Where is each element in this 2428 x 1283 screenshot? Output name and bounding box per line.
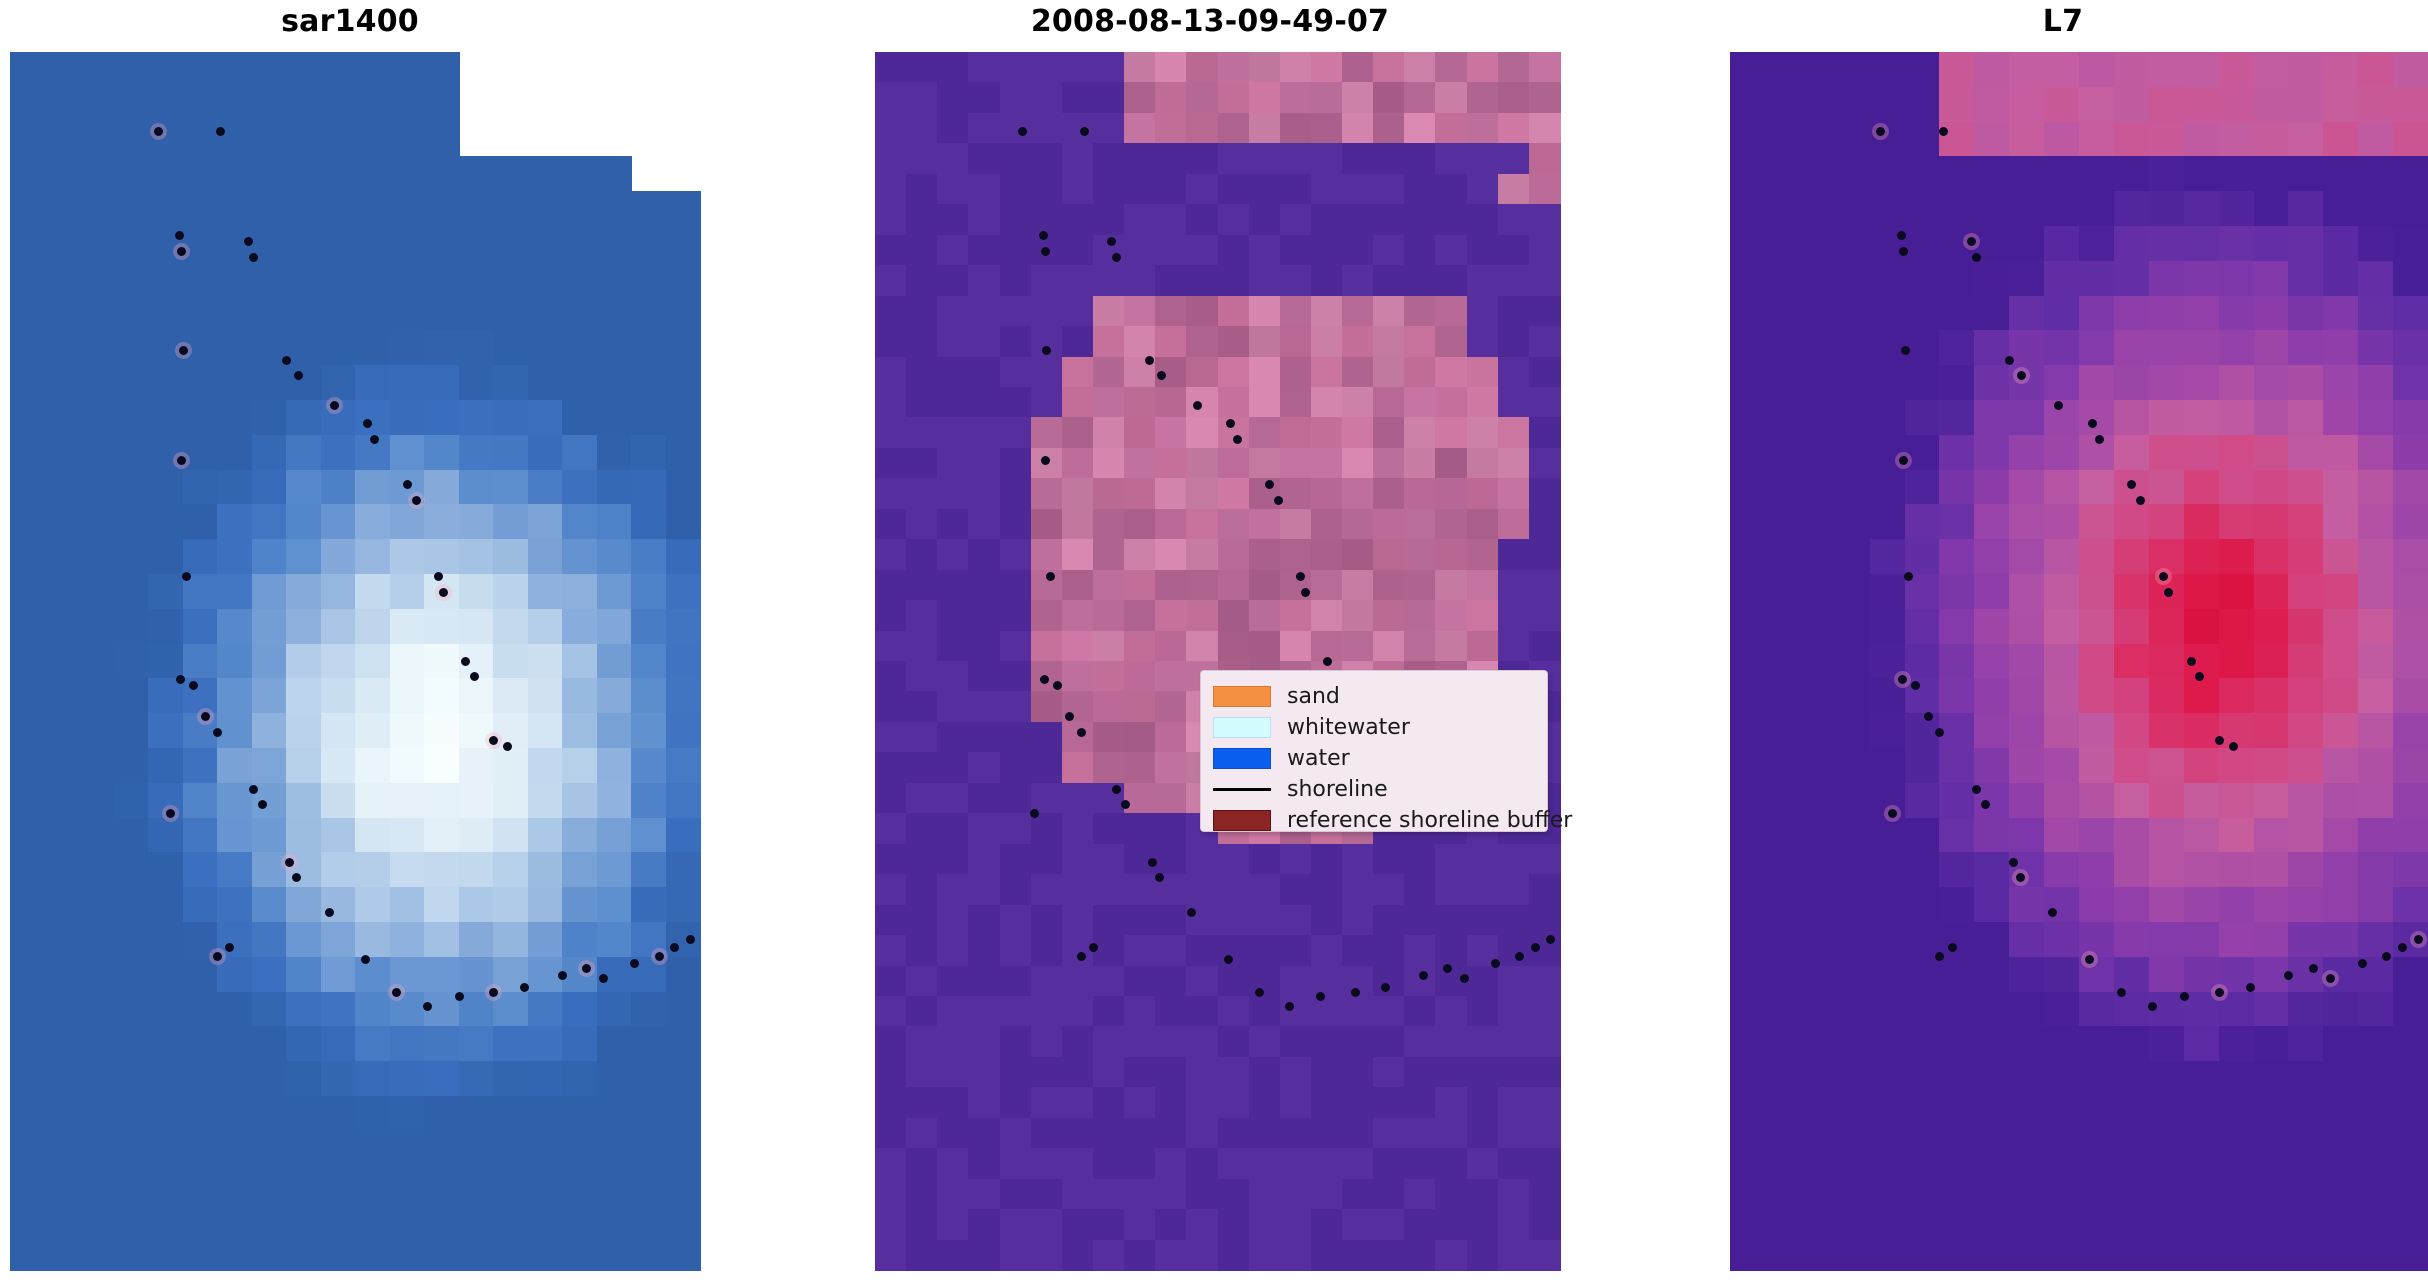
classified-cell bbox=[1249, 935, 1281, 966]
raster-cell bbox=[2149, 330, 2185, 366]
classified-cell bbox=[1373, 966, 1405, 997]
raster-cell bbox=[528, 226, 564, 262]
raster-cell bbox=[252, 400, 288, 436]
classified-cell bbox=[1000, 204, 1032, 235]
classified-cell bbox=[968, 691, 1000, 722]
shoreline-point bbox=[1924, 712, 1933, 721]
raster-cell bbox=[321, 504, 357, 540]
raster-cell bbox=[217, 435, 253, 471]
classified-cell bbox=[875, 722, 907, 753]
raster-cell bbox=[114, 678, 150, 714]
raster-cell bbox=[2393, 1026, 2428, 1062]
raster-cell bbox=[1905, 609, 1941, 645]
raster-cell bbox=[2254, 226, 2290, 262]
raster-cell bbox=[666, 1096, 702, 1132]
raster-cell bbox=[2184, 609, 2220, 645]
raster-cell bbox=[2219, 504, 2255, 540]
classified-cell bbox=[1031, 752, 1063, 783]
raster-cell bbox=[666, 1061, 702, 1097]
classified-cell bbox=[1031, 722, 1063, 753]
raster-cell bbox=[597, 470, 633, 506]
classified-cell bbox=[1186, 417, 1218, 448]
raster-cell bbox=[114, 748, 150, 784]
raster-cell bbox=[10, 52, 46, 88]
raster-cell bbox=[2323, 504, 2359, 540]
classified-cell bbox=[1218, 1087, 1250, 1118]
classified-cell bbox=[1435, 296, 1467, 327]
classified-cell bbox=[1062, 905, 1094, 936]
raster-cell bbox=[1730, 365, 1766, 401]
raster-cell bbox=[1905, 87, 1941, 123]
raster-cell bbox=[2254, 296, 2290, 332]
classified-cell bbox=[968, 661, 1000, 692]
raster-cell bbox=[252, 122, 288, 158]
raster-cell bbox=[2149, 852, 2185, 888]
raster-cell bbox=[390, 330, 426, 366]
raster-cell bbox=[2358, 539, 2394, 575]
raster-cell bbox=[183, 1061, 219, 1097]
shoreline-point bbox=[1531, 943, 1540, 952]
raster-cell bbox=[1974, 400, 2010, 436]
raster-cell bbox=[493, 1096, 529, 1132]
raster-cell bbox=[1835, 87, 1871, 123]
raster-cell bbox=[390, 1166, 426, 1202]
raster-cell bbox=[355, 1166, 391, 1202]
raster-cell bbox=[2288, 87, 2324, 123]
raster-cell bbox=[666, 261, 702, 297]
classified-cell bbox=[1031, 1240, 1063, 1271]
classified-cell bbox=[1529, 204, 1561, 235]
raster-cell bbox=[2114, 435, 2150, 471]
classified-cell bbox=[1404, 1087, 1436, 1118]
classified-cell bbox=[1000, 296, 1032, 327]
raster-cell bbox=[666, 922, 702, 958]
raster-cell bbox=[1765, 539, 1801, 575]
classified-cell bbox=[1311, 204, 1343, 235]
classified-cell bbox=[1529, 1209, 1561, 1240]
legend-label: reference shoreline buffer bbox=[1287, 810, 1572, 832]
raster-cell bbox=[217, 87, 253, 123]
raster-cell bbox=[2149, 1235, 2185, 1271]
raster-cell bbox=[2219, 644, 2255, 680]
raster-cell bbox=[183, 52, 219, 88]
classified-cell bbox=[937, 691, 969, 722]
classified-cell bbox=[1124, 570, 1156, 601]
raster-cell bbox=[493, 1026, 529, 1062]
classified-cell bbox=[1093, 996, 1125, 1027]
classified-cell bbox=[937, 143, 969, 174]
raster-cell bbox=[2079, 52, 2115, 88]
classified-cell bbox=[1031, 478, 1063, 509]
classified-cell bbox=[968, 874, 1000, 905]
raster-cell bbox=[631, 1200, 667, 1236]
raster-cell bbox=[666, 191, 702, 227]
raster-cell bbox=[2009, 748, 2045, 784]
classified-cell bbox=[937, 874, 969, 905]
raster-cell bbox=[45, 122, 81, 158]
classified-cell bbox=[906, 935, 938, 966]
classified-cell bbox=[906, 357, 938, 388]
classified-cell bbox=[906, 1209, 938, 1240]
classified-cell bbox=[875, 235, 907, 266]
raster-cell bbox=[2079, 887, 2115, 923]
classified-cell bbox=[1280, 387, 1312, 418]
classified-cell bbox=[1218, 478, 1250, 509]
classified-cell bbox=[968, 966, 1000, 997]
shoreline-point bbox=[1121, 800, 1130, 809]
raster-cell bbox=[597, 504, 633, 540]
raster-cell bbox=[355, 922, 391, 958]
classified-cell bbox=[1498, 478, 1530, 509]
raster-cell bbox=[1939, 1096, 1975, 1132]
raster-cell bbox=[2149, 52, 2185, 88]
classified-cell bbox=[1093, 905, 1125, 936]
raster-cell bbox=[424, 226, 460, 262]
classified-cell bbox=[937, 1240, 969, 1271]
classified-cell bbox=[1373, 1118, 1405, 1149]
classified-cell bbox=[1093, 874, 1125, 905]
raster-cell bbox=[2254, 435, 2290, 471]
classified-cell bbox=[1186, 296, 1218, 327]
raster-cell bbox=[321, 1166, 357, 1202]
classified-cell bbox=[1062, 844, 1094, 875]
classified-cell bbox=[906, 874, 938, 905]
raster-cell bbox=[1905, 261, 1941, 297]
raster-cell bbox=[666, 1131, 702, 1167]
classified-cell bbox=[1498, 1179, 1530, 1210]
raster-cell bbox=[493, 818, 529, 854]
raster-cell bbox=[631, 783, 667, 819]
classified-cell bbox=[1031, 996, 1063, 1027]
classified-cell bbox=[1249, 844, 1281, 875]
classified-cell bbox=[875, 143, 907, 174]
classified-cell bbox=[1311, 52, 1343, 83]
raster-cell bbox=[493, 1131, 529, 1167]
raster-cell bbox=[252, 261, 288, 297]
raster-cell bbox=[1870, 852, 1906, 888]
raster-cell bbox=[2323, 1200, 2359, 1236]
classified-cell bbox=[1124, 509, 1156, 540]
raster-cell bbox=[217, 783, 253, 819]
shoreline-point bbox=[1546, 935, 1555, 944]
classified-cell bbox=[1124, 1240, 1156, 1271]
raster-cell bbox=[1800, 191, 1836, 227]
raster-cell bbox=[286, 261, 322, 297]
classified-cell bbox=[937, 661, 969, 692]
raster-cell bbox=[286, 1235, 322, 1271]
raster-cell bbox=[666, 1200, 702, 1236]
classified-cell bbox=[906, 265, 938, 296]
raster-cell bbox=[45, 1061, 81, 1097]
raster-cell bbox=[148, 1061, 184, 1097]
raster-cell bbox=[1939, 609, 1975, 645]
raster-cell bbox=[2044, 122, 2080, 158]
raster-cell bbox=[597, 1166, 633, 1202]
shoreline-point bbox=[1491, 959, 1500, 968]
classified-cell bbox=[1186, 265, 1218, 296]
classified-cell bbox=[1280, 509, 1312, 540]
raster-cell bbox=[1939, 365, 1975, 401]
raster-cell bbox=[114, 1096, 150, 1132]
raster-cell bbox=[2149, 922, 2185, 958]
raster-cell bbox=[597, 713, 633, 749]
raster-cell bbox=[1800, 470, 1836, 506]
classified-cell bbox=[1280, 113, 1312, 144]
raster-cell bbox=[2114, 609, 2150, 645]
raster-cell bbox=[2323, 1061, 2359, 1097]
classified-cell bbox=[875, 1148, 907, 1179]
classified-cell bbox=[1124, 1118, 1156, 1149]
raster-cell bbox=[459, 1096, 495, 1132]
classified-cell bbox=[875, 1118, 907, 1149]
classified-cell bbox=[1124, 326, 1156, 357]
raster-cell bbox=[1939, 504, 1975, 540]
raster-cell bbox=[286, 957, 322, 993]
raster-cell bbox=[114, 1131, 150, 1167]
raster-cell bbox=[2323, 296, 2359, 332]
raster-cell bbox=[1730, 713, 1766, 749]
raster-cell bbox=[2358, 261, 2394, 297]
classified-cell bbox=[1529, 387, 1561, 418]
classified-cell bbox=[1124, 631, 1156, 662]
classified-cell bbox=[1311, 905, 1343, 936]
raster-cell bbox=[217, 992, 253, 1028]
raster-cell bbox=[1905, 748, 1941, 784]
classified-cell bbox=[906, 1240, 938, 1271]
classified-cell bbox=[1062, 570, 1094, 601]
classified-cell bbox=[1435, 52, 1467, 83]
classified-cell bbox=[1155, 204, 1187, 235]
classified-cell bbox=[1186, 600, 1218, 631]
raster-cell bbox=[10, 226, 46, 262]
raster-cell bbox=[493, 470, 529, 506]
raster-cell bbox=[424, 122, 460, 158]
classified-cell bbox=[906, 966, 938, 997]
classified-cell bbox=[1249, 265, 1281, 296]
raster-cell bbox=[2254, 783, 2290, 819]
raster-cell bbox=[2393, 713, 2428, 749]
raster-cell bbox=[1765, 226, 1801, 262]
classified-cell bbox=[1498, 417, 1530, 448]
raster-cell bbox=[2149, 713, 2185, 749]
raster-cell bbox=[390, 922, 426, 958]
raster-cell bbox=[2079, 678, 2115, 714]
raster-cell bbox=[1905, 852, 1941, 888]
classified-cell bbox=[1280, 844, 1312, 875]
raster-cell bbox=[528, 539, 564, 575]
classified-cell bbox=[1404, 143, 1436, 174]
classified-cell bbox=[1186, 1026, 1218, 1057]
classified-cell bbox=[1342, 1026, 1374, 1057]
raster-cell bbox=[2358, 678, 2394, 714]
raster-cell bbox=[2009, 470, 2045, 506]
raster-cell bbox=[2149, 191, 2185, 227]
raster-cell bbox=[1835, 539, 1871, 575]
classified-cell bbox=[1373, 113, 1405, 144]
raster-cell bbox=[1765, 748, 1801, 784]
raster-cell bbox=[1870, 156, 1906, 192]
raster-cell bbox=[390, 1096, 426, 1132]
raster-cell bbox=[252, 365, 288, 401]
raster-cell bbox=[2009, 609, 2045, 645]
classified-cell bbox=[1093, 52, 1125, 83]
raster-cell bbox=[2149, 609, 2185, 645]
raster-cell bbox=[1800, 1200, 1836, 1236]
classified-cell bbox=[1529, 1179, 1561, 1210]
classified-cell bbox=[1467, 113, 1499, 144]
raster-cell bbox=[114, 226, 150, 262]
panel-l7: L7 bbox=[1718, 0, 2428, 1283]
raster-cell bbox=[1905, 644, 1941, 680]
raster-cell bbox=[355, 992, 391, 1028]
raster-cell bbox=[2114, 992, 2150, 1028]
classified-cell bbox=[1342, 1179, 1374, 1210]
raster-cell bbox=[10, 504, 46, 540]
raster-cell bbox=[562, 226, 598, 262]
classified-cell bbox=[875, 357, 907, 388]
raster-cell bbox=[2288, 922, 2324, 958]
raster-cell bbox=[424, 1096, 460, 1132]
raster-cell bbox=[148, 365, 184, 401]
legend-swatch-icon bbox=[1213, 810, 1271, 831]
classified-cell bbox=[1155, 1087, 1187, 1118]
raster-cell bbox=[2079, 992, 2115, 1028]
raster-cell bbox=[114, 122, 150, 158]
classified-cell bbox=[1467, 600, 1499, 631]
raster-cell bbox=[2149, 504, 2185, 540]
raster-cell bbox=[1730, 748, 1766, 784]
shoreline-point bbox=[175, 231, 184, 240]
classified-cell bbox=[1031, 905, 1063, 936]
classified-cell bbox=[1093, 1240, 1125, 1271]
figure-canvas: sar1400 2008-08-13-09-49-07 L7 sandwhite… bbox=[0, 0, 2428, 1283]
raster-cell bbox=[562, 539, 598, 575]
classified-cell bbox=[1031, 1209, 1063, 1240]
classified-cell bbox=[1031, 204, 1063, 235]
raster-cell bbox=[2009, 435, 2045, 471]
raster-cell bbox=[2393, 818, 2428, 854]
classified-cell bbox=[1218, 935, 1250, 966]
classified-cell bbox=[1311, 296, 1343, 327]
raster-cell bbox=[631, 1131, 667, 1167]
classified-cell bbox=[1218, 235, 1250, 266]
classified-cell bbox=[1467, 1179, 1499, 1210]
raster-cell bbox=[10, 400, 46, 436]
raster-cell bbox=[390, 678, 426, 714]
raster-cell bbox=[390, 122, 426, 158]
raster-cell bbox=[2149, 783, 2185, 819]
raster-cell bbox=[493, 330, 529, 366]
classified-cell bbox=[1404, 478, 1436, 509]
classified-cell bbox=[1498, 905, 1530, 936]
shoreline-point bbox=[2414, 935, 2423, 944]
classified-cell bbox=[1000, 752, 1032, 783]
raster-cell bbox=[2149, 400, 2185, 436]
classified-cell bbox=[1093, 1057, 1125, 1088]
raster-cell bbox=[2114, 365, 2150, 401]
raster-cell bbox=[2323, 887, 2359, 923]
classified-cell bbox=[1311, 235, 1343, 266]
classified-cell bbox=[937, 417, 969, 448]
classified-cell bbox=[1249, 448, 1281, 479]
raster-cell bbox=[2149, 470, 2185, 506]
classified-cell bbox=[1280, 966, 1312, 997]
classified-cell bbox=[1249, 143, 1281, 174]
raster-cell bbox=[286, 122, 322, 158]
raster-cell bbox=[355, 818, 391, 854]
raster-cell bbox=[2219, 1061, 2255, 1097]
classified-cell bbox=[1404, 509, 1436, 540]
classified-cell bbox=[1062, 1118, 1094, 1149]
classified-cell bbox=[1498, 874, 1530, 905]
raster-cell bbox=[2254, 1026, 2290, 1062]
raster-cell bbox=[1939, 957, 1975, 993]
raster-cell bbox=[114, 818, 150, 854]
raster-cell bbox=[1939, 1026, 1975, 1062]
classified-cell bbox=[1373, 1148, 1405, 1179]
classified-cell bbox=[1342, 357, 1374, 388]
raster-cell bbox=[2184, 539, 2220, 575]
raster-cell bbox=[2044, 296, 2080, 332]
classified-cell bbox=[1186, 1179, 1218, 1210]
raster-cell bbox=[321, 922, 357, 958]
classified-cell bbox=[1342, 143, 1374, 174]
raster-cell bbox=[217, 365, 253, 401]
classified-cell bbox=[906, 661, 938, 692]
raster-cell bbox=[114, 992, 150, 1028]
raster-cell bbox=[493, 678, 529, 714]
classified-cell bbox=[1093, 509, 1125, 540]
raster-cell bbox=[321, 609, 357, 645]
shoreline-point bbox=[258, 800, 267, 809]
raster-cell bbox=[2044, 957, 2080, 993]
classified-cell bbox=[906, 1148, 938, 1179]
raster-cell bbox=[528, 1200, 564, 1236]
classified-cell bbox=[1218, 1118, 1250, 1149]
classified-cell bbox=[1062, 1179, 1094, 1210]
raster-cell bbox=[2114, 957, 2150, 993]
raster-cell bbox=[562, 922, 598, 958]
shoreline-point bbox=[1274, 496, 1283, 505]
raster-cell bbox=[666, 296, 702, 332]
raster-cell bbox=[1870, 296, 1906, 332]
raster-cell bbox=[2044, 783, 2080, 819]
raster-cell bbox=[2254, 539, 2290, 575]
raster-cell bbox=[286, 644, 322, 680]
classified-cell bbox=[1404, 539, 1436, 570]
raster-cell bbox=[2114, 678, 2150, 714]
raster-cell bbox=[2288, 1200, 2324, 1236]
raster-cell bbox=[1765, 504, 1801, 540]
raster-cell bbox=[424, 191, 460, 227]
raster-cell bbox=[2219, 1131, 2255, 1167]
classified-cell bbox=[906, 1118, 938, 1149]
shoreline-point bbox=[1041, 247, 1050, 256]
classified-cell bbox=[906, 1087, 938, 1118]
classified-cell bbox=[1031, 844, 1063, 875]
raster-cell bbox=[597, 1026, 633, 1062]
raster-cell bbox=[562, 191, 598, 227]
classified-cell bbox=[1280, 143, 1312, 174]
raster-cell bbox=[2079, 261, 2115, 297]
classified-cell bbox=[1093, 174, 1125, 205]
classified-cell bbox=[937, 1118, 969, 1149]
raster-cell bbox=[562, 435, 598, 471]
classified-cell bbox=[1373, 174, 1405, 205]
classified-cell bbox=[1529, 265, 1561, 296]
classified-cell bbox=[1342, 1209, 1374, 1240]
raster-cell bbox=[286, 400, 322, 436]
